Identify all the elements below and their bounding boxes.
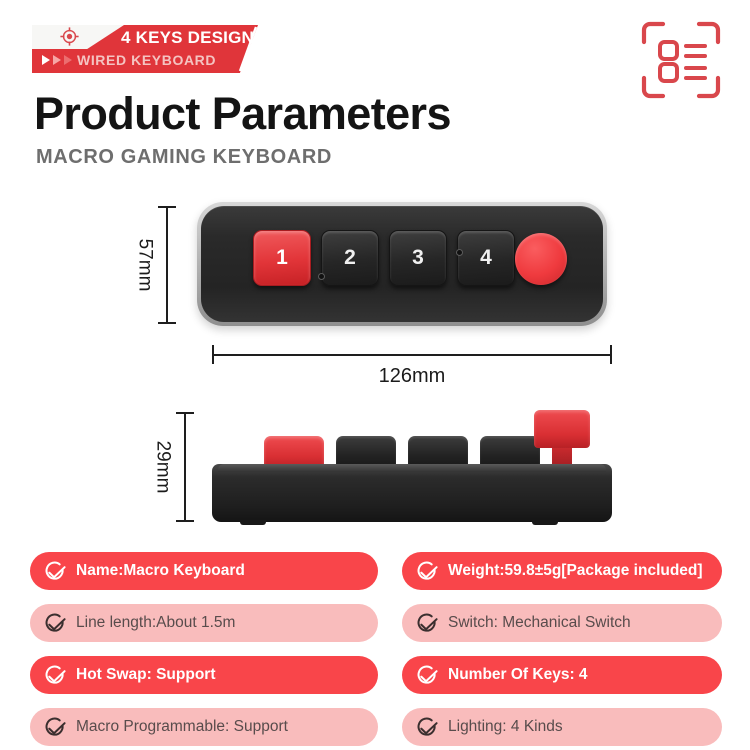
- check-circle-icon: [416, 716, 439, 739]
- scan-list-icon: [640, 20, 722, 100]
- led-indicator-2: [456, 249, 463, 256]
- spec-pill-switch: Switch: Mechanical Switch: [402, 604, 722, 642]
- page-title: Product Parameters: [34, 88, 451, 140]
- spec-pill-macro-programmable: Macro Programmable: Support: [30, 708, 378, 746]
- rotary-knob-top: [515, 233, 567, 285]
- spec-pill-number-of-keys: Number Of Keys: 4: [402, 656, 722, 694]
- spec-pill-hot-swap: Hot Swap: Support: [30, 656, 378, 694]
- spec-label: Weight:59.8±5g[Package included]: [448, 562, 703, 580]
- spec-pill-line-length: Line length:About 1.5m: [30, 604, 378, 642]
- keyboard-top-body: 1 2 3 4: [201, 206, 603, 322]
- led-indicator-1: [318, 273, 325, 280]
- keyboard-side-view: [212, 408, 612, 526]
- arrow-markers-icon: [42, 55, 72, 65]
- badge-subtitle-row: WIRED KEYBOARD: [42, 50, 248, 70]
- spec-pill-lighting: Lighting: 4 Kinds: [402, 708, 722, 746]
- spec-pill-name: Name:Macro Keyboard: [30, 552, 378, 590]
- check-circle-icon: [44, 560, 67, 583]
- rubber-foot-right: [532, 520, 558, 525]
- crosshair-target-icon: [60, 27, 79, 46]
- keycap-2: 2: [321, 230, 379, 286]
- specifications-section: Name:Macro Keyboard Weight:59.8±5g[Packa…: [30, 552, 722, 746]
- spec-pill-weight: Weight:59.8±5g[Package included]: [402, 552, 722, 590]
- check-circle-icon: [44, 664, 67, 687]
- check-circle-icon: [44, 716, 67, 739]
- page-subtitle: MACRO GAMING KEYBOARD: [36, 146, 332, 169]
- check-circle-icon: [416, 612, 439, 635]
- spec-label: Lighting: 4 Kinds: [448, 718, 563, 736]
- badge-subtitle: WIRED KEYBOARD: [77, 52, 216, 68]
- check-circle-icon: [416, 664, 439, 687]
- dimension-label-126mm: 126mm: [379, 365, 446, 388]
- keyboard-top-view: 1 2 3 4: [197, 202, 607, 326]
- check-circle-icon: [416, 560, 439, 583]
- rubber-foot-left: [240, 520, 266, 525]
- spec-label: Name:Macro Keyboard: [76, 562, 245, 580]
- keycap-4: 4: [457, 230, 515, 286]
- check-circle-icon: [44, 612, 67, 635]
- keycap-3: 3: [389, 230, 447, 286]
- keycap-1: 1: [253, 230, 311, 286]
- keycap-row: 1 2 3 4: [253, 230, 515, 286]
- knob-cap: [534, 410, 590, 448]
- product-badge: 4 KEYS DESIGN WIRED KEYBOARD: [32, 25, 258, 73]
- keyboard-base-side: [212, 464, 612, 522]
- spec-label: Macro Programmable: Support: [76, 718, 288, 736]
- spec-label: Hot Swap: Support: [76, 666, 216, 684]
- spec-label: Line length:About 1.5m: [76, 614, 235, 632]
- dimension-label-57mm: 57mm: [133, 239, 155, 292]
- badge-slash-decor: [230, 25, 260, 73]
- rotary-knob-side: [534, 410, 590, 470]
- spec-label: Switch: Mechanical Switch: [448, 614, 631, 632]
- spec-label: Number Of Keys: 4: [448, 666, 588, 684]
- dimension-label-29mm: 29mm: [151, 441, 173, 494]
- spec-grid: Name:Macro Keyboard Weight:59.8±5g[Packa…: [30, 552, 722, 746]
